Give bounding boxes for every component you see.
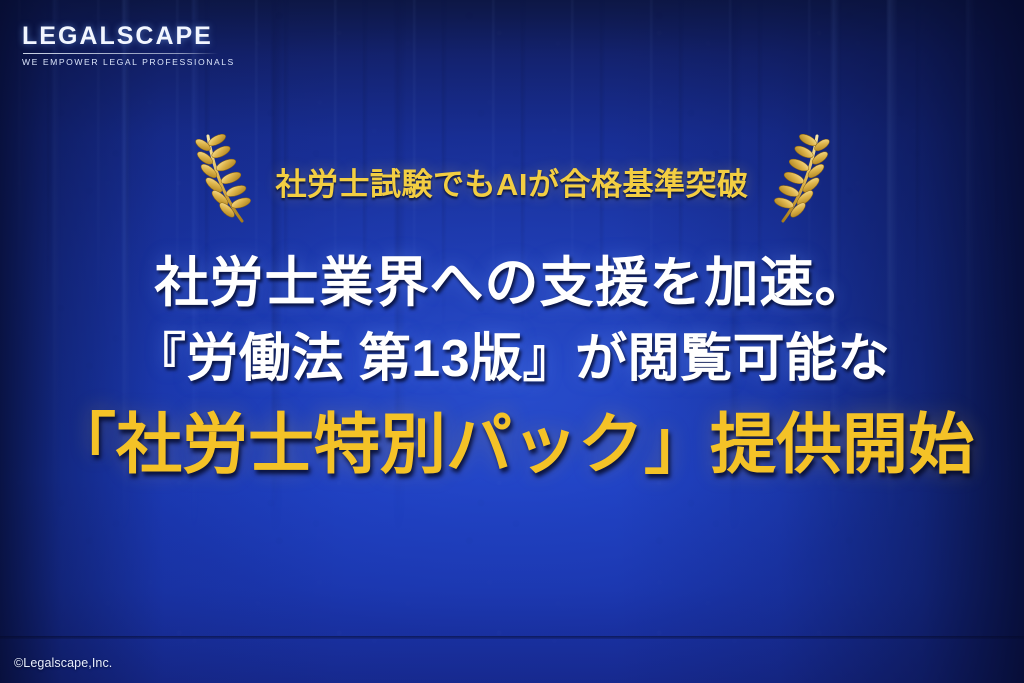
headline-block: 社労士業界への支援を加速。 『労働法 第13版』が閲覧可能な 「社労士特別パック… [0,246,1024,490]
promo-slide: LEGALSCAPE WE EMPOWER LEGAL PROFESSIONAL… [0,0,1024,683]
headline-line-2: 『労働法 第13版』が閲覧可能な [0,320,1024,398]
copyright-notice: ©Legalscape,Inc. [14,656,112,670]
headline-line-3: 「社労士特別パック」提供開始 [0,398,1024,490]
award-banner: 社労士試験でもAIが合格基準突破 [0,133,1024,230]
background-floor-seam [0,636,1024,639]
logo-divider-rule [23,53,218,54]
headline-line-1: 社労士業界への支援を加速。 [0,246,1024,320]
laurel-branch-right-icon [771,133,831,230]
laurel-branch-left-icon [194,133,254,230]
logo-tagline: WE EMPOWER LEGAL PROFESSIONALS [22,58,218,67]
logo-wordmark: LEGALSCAPE [22,24,218,49]
legalscape-logo: LEGALSCAPE WE EMPOWER LEGAL PROFESSIONAL… [22,24,218,67]
award-banner-text: 社労士試験でもAIが合格基準突破 [276,159,749,204]
